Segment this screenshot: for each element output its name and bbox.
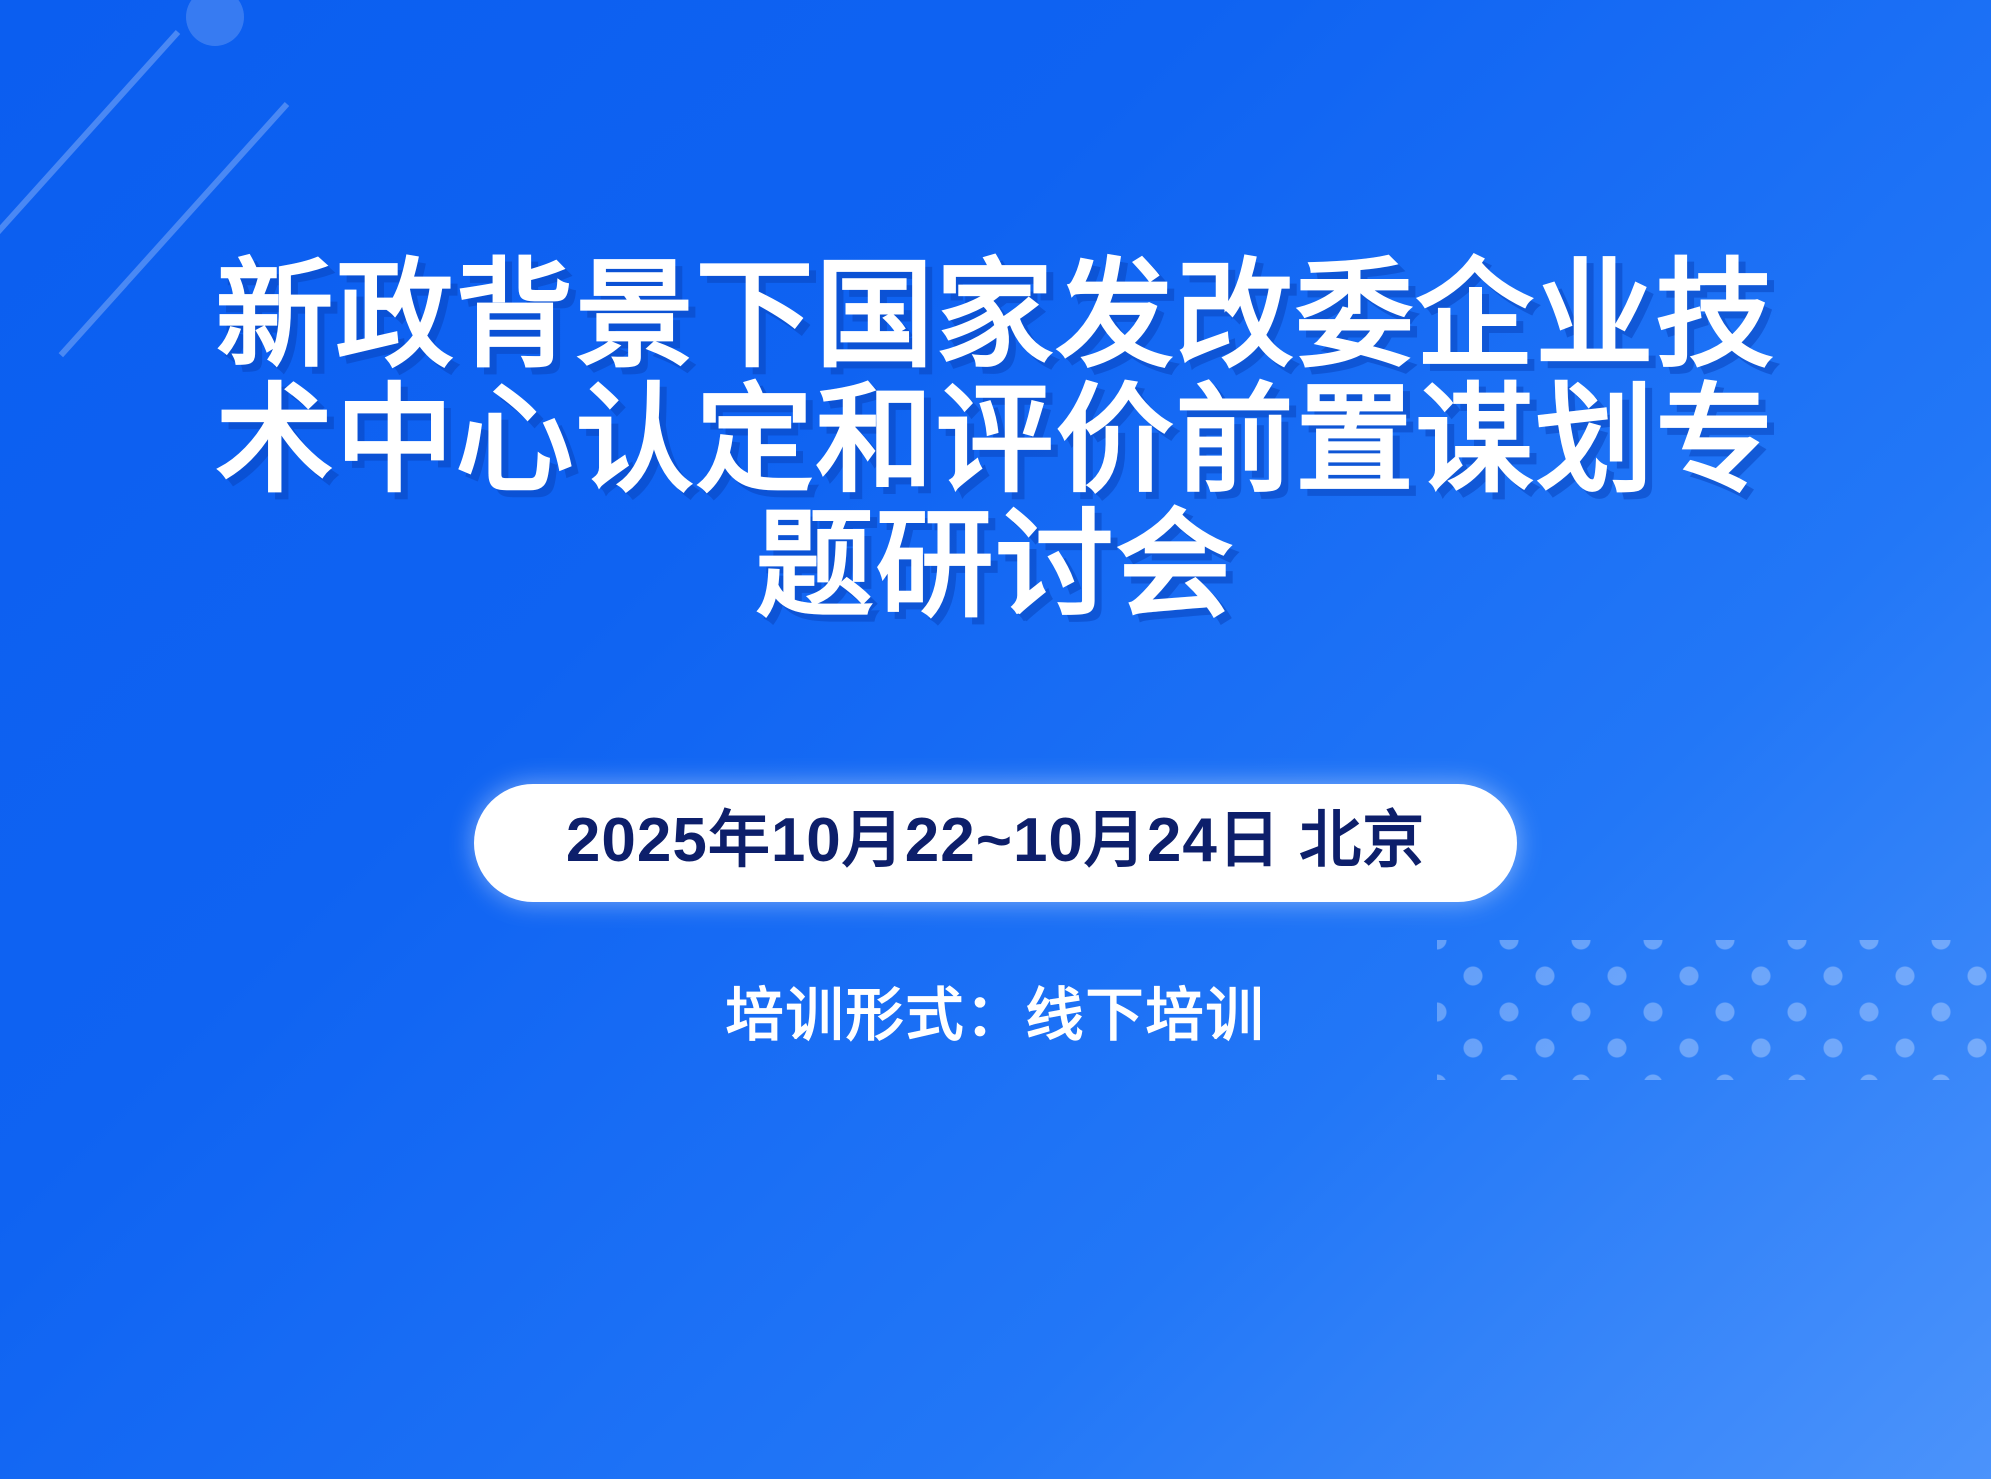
event-poster: 新政背景下国家发改委企业技 术中心认定和评价前置谋划专 题研讨会 2025年10… (0, 0, 1991, 1479)
poster-content: 新政背景下国家发改委企业技 术中心认定和评价前置谋划专 题研讨会 2025年10… (0, 0, 1991, 1479)
event-date-location-badge: 2025年10月22~10月24日 北京 (474, 784, 1517, 902)
page-title: 新政背景下国家发改委企业技 术中心认定和评价前置谋划专 题研讨会 (196, 252, 1796, 627)
page-title-line-3: 题研讨会 (196, 502, 1796, 627)
page-title-line-1: 新政背景下国家发改委企业技 (196, 252, 1796, 377)
page-title-line-2: 术中心认定和评价前置谋划专 (196, 377, 1796, 502)
training-format-text: 培训形式：线下培训 (725, 968, 1265, 1052)
